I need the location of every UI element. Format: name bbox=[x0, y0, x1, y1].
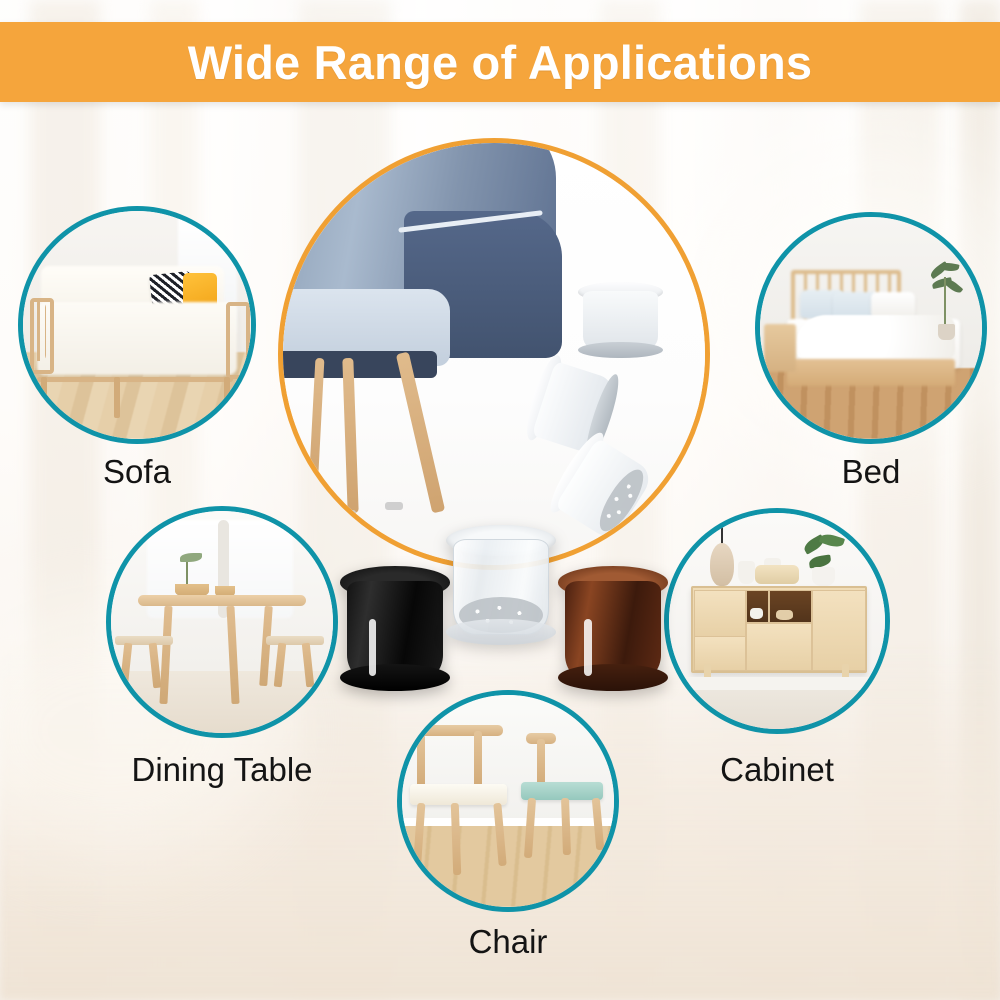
bed-plant-stem bbox=[944, 277, 946, 327]
showcase-chair-leg-front-right bbox=[342, 358, 358, 514]
sofa-left-arm-slats bbox=[32, 302, 46, 361]
dining-chair-left bbox=[115, 613, 173, 688]
cabinet-label: Cabinet bbox=[664, 753, 890, 786]
sofa-front-rail bbox=[37, 377, 233, 382]
chair-label: Chair bbox=[397, 925, 619, 958]
chair-photo-circle bbox=[397, 690, 619, 912]
chair-back-leg-2 bbox=[561, 798, 571, 855]
product-black-cap-highlight bbox=[369, 619, 377, 677]
product-black-cap-base bbox=[340, 664, 450, 692]
cabinet-door-center bbox=[746, 623, 812, 671]
sofa-seat bbox=[37, 302, 238, 375]
bed-scene bbox=[760, 217, 982, 439]
showcase-chair bbox=[278, 138, 595, 506]
sofa-leg-3 bbox=[224, 377, 230, 413]
cabinet-body bbox=[691, 586, 868, 672]
chair-front-backrest bbox=[415, 725, 503, 736]
showcase-cap-upright-base bbox=[578, 342, 662, 359]
bed-photo-circle bbox=[755, 212, 987, 444]
sofa-leg-2 bbox=[114, 377, 120, 418]
chair-front-post-left bbox=[417, 734, 425, 787]
showcase-chair-leg-front-left bbox=[309, 358, 325, 490]
product-brown-cap bbox=[558, 566, 668, 691]
product-brown-cap-highlight bbox=[584, 619, 592, 677]
showcase-cap-upright bbox=[578, 282, 662, 358]
showcase-scene bbox=[283, 143, 705, 565]
chair-front-seat bbox=[410, 784, 507, 804]
chair-front-leg-2 bbox=[451, 803, 462, 875]
cabinet-baseboard bbox=[669, 677, 885, 690]
dining-chair-right-leg-1 bbox=[273, 643, 286, 687]
bed-frame bbox=[787, 359, 956, 386]
chair-back-post bbox=[537, 739, 545, 788]
showcase-chair-foot-1 bbox=[309, 487, 325, 495]
bed-plant-leaf-4 bbox=[943, 277, 964, 296]
sofa-label: Sofa bbox=[18, 455, 256, 488]
bed-plant bbox=[924, 261, 968, 341]
cabinet-door-right bbox=[812, 590, 866, 671]
header-banner: Wide Range of Applications bbox=[0, 22, 1000, 102]
cabinet-door-left-bottom bbox=[694, 636, 746, 671]
page-title: Wide Range of Applications bbox=[188, 39, 813, 86]
dining-chair-left-leg-2 bbox=[149, 643, 162, 689]
dining-chair-left-leg-1 bbox=[120, 643, 133, 689]
chair-front-post-right bbox=[474, 731, 482, 787]
chair-scene bbox=[402, 695, 614, 907]
dining-table-top-solid bbox=[138, 595, 307, 606]
cabinet-vase bbox=[710, 543, 734, 586]
cabinet-shelf-item-1 bbox=[750, 608, 764, 619]
dining-chair-right-seat bbox=[266, 636, 324, 645]
sofa-photo-circle bbox=[18, 206, 256, 444]
product-black-cap bbox=[340, 566, 450, 691]
dining-table-label: Dining Table bbox=[76, 753, 368, 786]
sofa-leg-1 bbox=[41, 377, 47, 418]
product-clear-cap bbox=[446, 525, 556, 645]
infographic-canvas: Wide Range of Applications Sofa bbox=[0, 0, 1000, 1000]
dining-chair-right-leg-2 bbox=[302, 643, 315, 687]
sofa-right-arm bbox=[226, 302, 250, 378]
cabinet-shelf-item-2 bbox=[776, 610, 793, 620]
showcase-chair-foot-3 bbox=[385, 502, 403, 510]
cabinet-lamp-cord bbox=[721, 513, 723, 545]
chair-front-leg-1 bbox=[412, 803, 425, 872]
cabinet-door-left-top bbox=[694, 590, 746, 638]
bed-nightstand bbox=[764, 324, 795, 373]
chair-back-seat bbox=[521, 782, 603, 800]
bed-label: Bed bbox=[755, 455, 987, 488]
cabinet-cup-1 bbox=[738, 561, 755, 585]
chair-back-leg-1 bbox=[524, 798, 536, 858]
product-brown-cap-base bbox=[558, 664, 668, 692]
sofa-scene bbox=[23, 211, 251, 439]
dining-chair-right bbox=[266, 613, 324, 688]
chair-back-leg-3 bbox=[591, 798, 603, 850]
cabinet-plant-pot bbox=[812, 567, 836, 586]
showcase-chair-foot-2 bbox=[339, 510, 356, 518]
chair-front bbox=[410, 725, 520, 882]
cabinet-box bbox=[755, 565, 798, 584]
chair-back bbox=[521, 733, 610, 869]
bed-plant-pot bbox=[938, 324, 956, 340]
main-product-showcase-circle bbox=[278, 138, 710, 570]
product-clear-cap-base bbox=[446, 619, 556, 645]
chair-front-leg-3 bbox=[494, 803, 507, 866]
